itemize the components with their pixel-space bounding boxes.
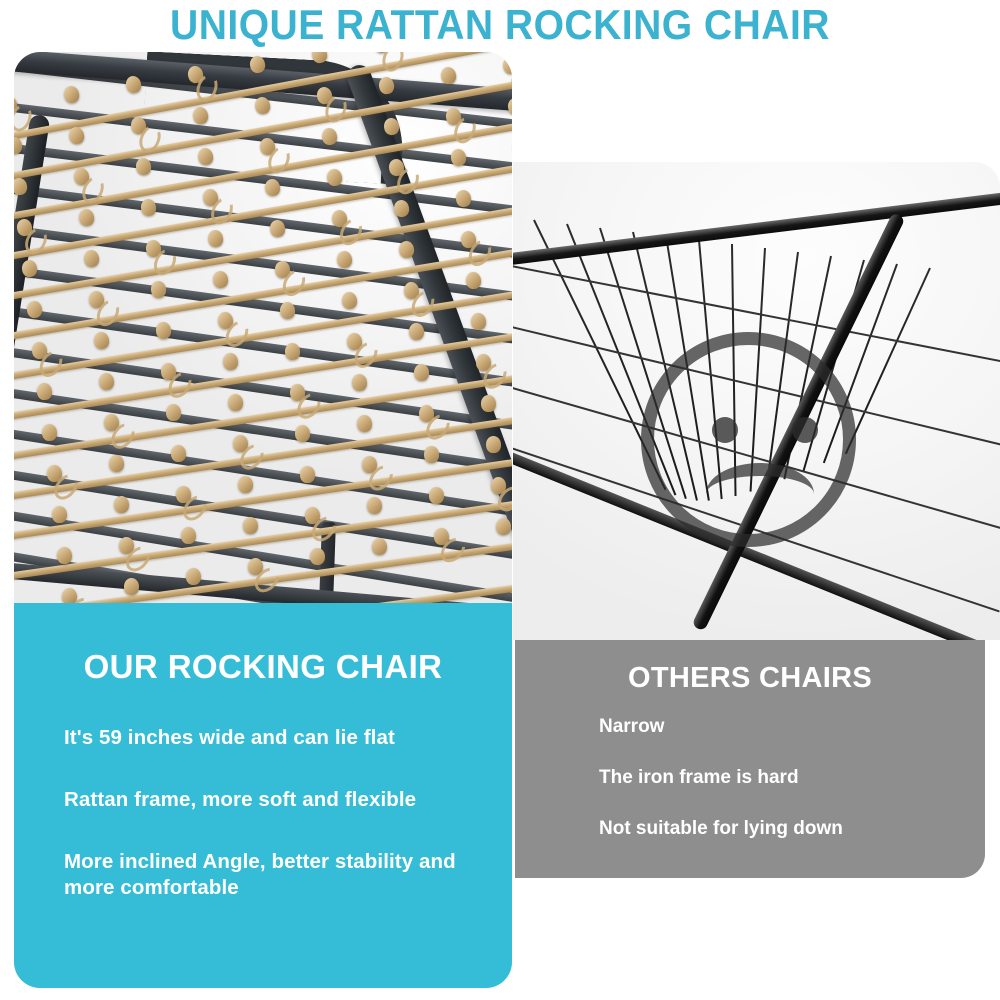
list-item: Narrow xyxy=(599,715,979,739)
rattan-knot xyxy=(186,568,201,585)
rattan-knot xyxy=(450,148,467,167)
rattan-knot xyxy=(52,506,68,524)
rattan-knot xyxy=(155,321,172,339)
rattan-knot xyxy=(26,300,43,319)
rattan-knot xyxy=(470,312,486,330)
rattan-knot xyxy=(455,189,472,208)
sad-face-right-eye xyxy=(792,417,818,443)
rattan-knot xyxy=(150,280,167,299)
rattan-knot xyxy=(192,106,210,126)
rattan-knot xyxy=(429,487,444,504)
sad-face-left-eye xyxy=(712,417,738,443)
rattan-knot xyxy=(243,517,258,534)
rattan-knot xyxy=(507,97,512,116)
our-chair-text-panel: OUR ROCKING CHAIR It's 59 inches wide an… xyxy=(14,603,512,988)
rattan-knot xyxy=(295,425,311,443)
rattan-knot xyxy=(171,445,187,463)
rattan-knot xyxy=(440,66,458,86)
others-chair-photo xyxy=(513,162,1000,640)
our-chair-photo xyxy=(14,52,512,603)
rattan-knot xyxy=(68,126,86,146)
rattan-knot xyxy=(124,578,139,595)
our-chair-card: OUR ROCKING CHAIR It's 59 inches wide an… xyxy=(14,52,512,988)
sad-face-mouth xyxy=(706,463,814,525)
rattan-knot xyxy=(98,372,114,390)
rattan-knot xyxy=(140,198,157,217)
rattan-knot xyxy=(481,395,497,413)
rattan-knot xyxy=(486,436,502,454)
rattan-knot xyxy=(310,548,325,565)
rattan-knot xyxy=(465,271,482,289)
rattan-knot xyxy=(93,331,110,349)
rattan-knot xyxy=(62,85,80,105)
rattan-knot xyxy=(310,52,328,64)
rattan-knot xyxy=(351,373,367,391)
rattan-knot xyxy=(326,168,343,187)
rattan-knot xyxy=(300,466,316,484)
rattan-knot xyxy=(341,291,358,309)
rattan-knot xyxy=(284,342,300,360)
rattan-knot xyxy=(502,56,512,76)
rattan-knot xyxy=(383,117,401,136)
rattan-knot xyxy=(321,127,339,146)
list-item: Not suitable for lying down xyxy=(599,817,979,841)
list-item: The iron frame is hard xyxy=(599,766,979,790)
page-title: UNIQUE RATTAN ROCKING CHAIR xyxy=(35,0,965,50)
rattan-knot xyxy=(197,147,215,166)
rattan-knot xyxy=(14,177,28,196)
rattan-knot xyxy=(41,423,57,441)
rattan-knot xyxy=(336,250,353,269)
rattan-knot xyxy=(393,199,410,218)
rattan-knot xyxy=(57,547,72,564)
rattan-knot xyxy=(124,75,142,95)
rattan-knot xyxy=(181,527,196,544)
rattan-knot xyxy=(408,322,424,340)
rattan-knot xyxy=(413,363,429,381)
others-chair-feature-list: Narrow The iron frame is hard Not suitab… xyxy=(599,715,979,868)
rattan-knot xyxy=(212,270,229,289)
rattan-knot xyxy=(279,301,296,319)
rattan-knot xyxy=(135,157,153,176)
our-chair-heading: OUR ROCKING CHAIR xyxy=(14,648,512,686)
rattan-knot xyxy=(254,96,272,116)
infographic-canvas: UNIQUE RATTAN ROCKING CHAIR OUR ROCKING … xyxy=(0,0,1000,1000)
others-chair-text-panel: OTHERS CHAIRS Narrow The iron frame is h… xyxy=(515,640,985,878)
rattan-knot xyxy=(21,259,38,278)
rattan-knot xyxy=(227,393,243,411)
rattan-knot xyxy=(248,55,266,75)
rattan-knot xyxy=(424,446,440,464)
rattan-knot xyxy=(222,352,238,370)
rattan-knot xyxy=(114,496,130,514)
rattan-knot xyxy=(109,455,125,473)
list-item: It's 59 inches wide and can lie flat xyxy=(64,725,504,751)
sad-face-icon xyxy=(641,332,856,547)
rattan-knot xyxy=(269,219,286,238)
rattan-knot xyxy=(238,476,254,494)
rattan-knot xyxy=(36,382,52,400)
rattan-cords-group xyxy=(14,52,512,603)
rattan-knot xyxy=(398,240,415,259)
rattan-knot xyxy=(165,403,181,421)
rattan-knot xyxy=(372,538,387,555)
others-chair-heading: OTHERS CHAIRS xyxy=(515,662,985,695)
rattan-knot xyxy=(207,229,224,248)
list-item: More inclined Angle, better stability an… xyxy=(64,849,504,901)
rattan-knot xyxy=(496,518,511,535)
rattan-knot xyxy=(367,497,382,514)
rattan-knot xyxy=(78,208,95,227)
rattan-knot xyxy=(357,415,373,433)
list-item: Rattan frame, more soft and flexible xyxy=(64,787,504,813)
our-chair-feature-list: It's 59 inches wide and can lie flat Rat… xyxy=(64,725,504,937)
rattan-knot xyxy=(14,136,23,156)
rattan-knot xyxy=(83,249,100,268)
rattan-knot xyxy=(378,76,396,96)
rattan-knot xyxy=(264,178,281,197)
